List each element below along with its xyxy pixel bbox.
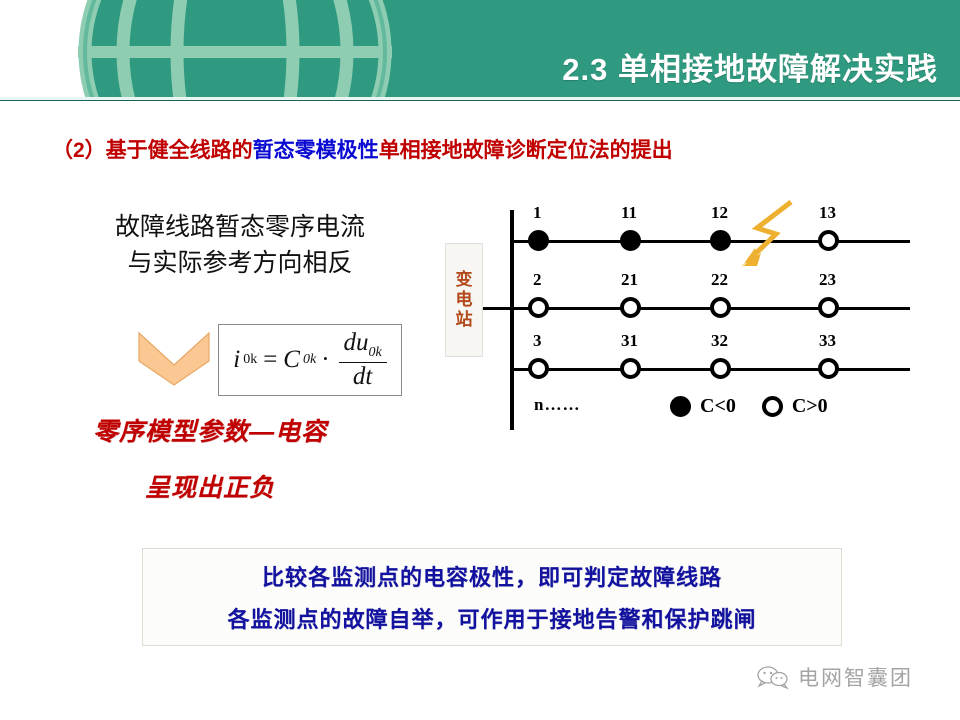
node-23[interactable] <box>818 297 839 318</box>
node-label-1: 1 <box>533 203 542 223</box>
conclusion-line-1: 比较各监测点的电容极性，即可判定故障线路 <box>262 560 722 592</box>
conclusion-callout: 比较各监测点的电容极性，即可判定故障线路 各监测点的故障自举，可作用于接地告警和… <box>142 548 842 646</box>
node-label-22: 22 <box>711 270 728 290</box>
node-label-33: 33 <box>819 331 836 351</box>
wechat-bubbles-icon <box>756 664 790 690</box>
node-32[interactable] <box>710 358 731 379</box>
legend-item-negative: C<0 <box>670 395 736 418</box>
lead-statement: 故障线路暂态零序电流 与实际参考方向相反 <box>80 210 400 283</box>
watermark-text: 电网智囊团 <box>798 662 913 692</box>
node-3[interactable] <box>528 358 549 379</box>
formula-dot: · <box>321 346 329 374</box>
filled-circle-icon <box>670 396 691 417</box>
legend-item-positive: C>0 <box>762 395 828 418</box>
node-label-31: 31 <box>621 331 638 351</box>
open-circle-icon <box>762 396 783 417</box>
node-12[interactable] <box>710 230 731 251</box>
node-label-13: 13 <box>819 203 836 223</box>
legend-label-negative: C<0 <box>700 395 736 418</box>
node-2[interactable] <box>528 297 549 318</box>
watermark: 电网智囊团 <box>756 662 913 692</box>
node-33[interactable] <box>818 358 839 379</box>
feeder-network-diagram: 变 电 站 1 11 12 13 2 21 22 23 3 31 32 <box>440 190 940 450</box>
subtitle-highlight: 暂态零模极性 <box>253 139 379 162</box>
legend-label-positive: C>0 <box>792 395 828 418</box>
subtitle-part-1: （2）基于健全线路的 <box>52 139 253 162</box>
diagram-legend: C<0 C>0 <box>670 395 828 418</box>
busbar <box>510 210 514 430</box>
node-1[interactable] <box>528 230 549 251</box>
node-label-2: 2 <box>533 270 542 290</box>
formula-equals: = <box>263 346 277 374</box>
node-21[interactable] <box>620 297 641 318</box>
node-label-12: 12 <box>711 203 728 223</box>
feeder-continuation-label: n…… <box>534 395 580 415</box>
formula-numerator: du0k <box>339 330 387 363</box>
slide-header: 2.3 单相接地故障解决实践 <box>0 0 960 101</box>
substation-box: 变 电 站 <box>445 243 483 357</box>
lead-statement-line-2: 与实际参考方向相反 <box>80 246 400 282</box>
conclusion-line-2: 各监测点的故障自举，可作用于接地告警和保护跳闸 <box>227 602 756 634</box>
zero-sequence-formula: i0k = C0k · du0k dt <box>233 330 387 390</box>
formula-lhs-var: i <box>233 346 240 374</box>
emphasis-line-2: 呈现出正负 <box>0 468 420 504</box>
formula-numerator-sub: 0k <box>369 345 382 360</box>
formula-box: i0k = C0k · du0k dt <box>218 324 402 396</box>
node-label-3: 3 <box>533 331 542 351</box>
slide-root: 2.3 单相接地故障解决实践 （2）基于健全线路的暂态零模极性单相接地故障诊断定… <box>0 0 960 720</box>
emphasis-line-1: 零序模型参数—电容 <box>0 412 420 448</box>
formula-numerator-var: du <box>344 329 369 356</box>
subtitle-part-2: 单相接地故障诊断定位法的提出 <box>379 139 673 162</box>
globe-grid-icon <box>0 0 470 101</box>
substation-char-2: 电 <box>456 290 473 310</box>
node-label-23: 23 <box>819 270 836 290</box>
formula-denominator: dt <box>348 363 377 390</box>
formula-fraction: du0k dt <box>339 330 387 390</box>
node-22[interactable] <box>710 297 731 318</box>
lightning-bolt-arrow-icon <box>735 198 805 273</box>
node-11[interactable] <box>620 230 641 251</box>
section-subtitle: （2）基于健全线路的暂态零模极性单相接地故障诊断定位法的提出 <box>52 134 673 164</box>
node-label-21: 21 <box>621 270 638 290</box>
header-rule <box>0 100 960 101</box>
substation-char-3: 站 <box>456 310 473 330</box>
node-13[interactable] <box>818 230 839 251</box>
node-31[interactable] <box>620 358 641 379</box>
formula-rhs-sub: 0k <box>303 352 316 368</box>
node-label-11: 11 <box>621 203 637 223</box>
chevron-down-icon <box>135 327 213 389</box>
formula-lhs-sub: 0k <box>243 352 257 368</box>
page-title: 2.3 单相接地故障解决实践 <box>562 44 938 89</box>
substation-char-1: 变 <box>456 270 473 290</box>
node-label-32: 32 <box>711 331 728 351</box>
formula-rhs-var: C <box>283 346 300 374</box>
lead-statement-line-1: 故障线路暂态零序电流 <box>80 210 400 246</box>
